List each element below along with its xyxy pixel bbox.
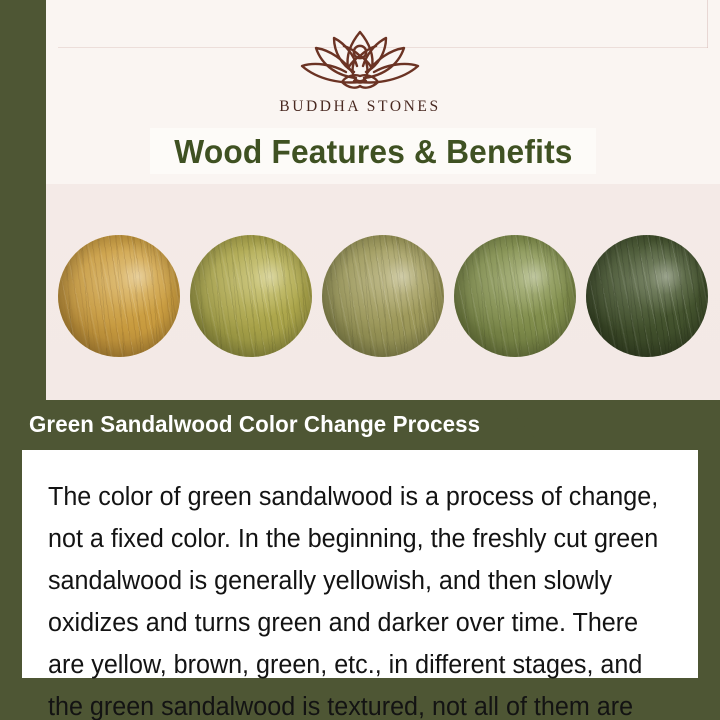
page-title: Wood Features & Benefits — [174, 135, 572, 168]
poster-root: BUDDHA STONES Wood Features & Benefits G… — [0, 0, 720, 720]
section-ribbon: Green Sandalwood Color Change Process — [0, 404, 540, 444]
bead-stage-3 — [322, 235, 444, 357]
title-band: Wood Features & Benefits — [150, 128, 596, 174]
brand-name: BUDDHA STONES — [279, 98, 440, 116]
bead-stage-5 — [586, 235, 708, 357]
bead-stage-2 — [190, 235, 312, 357]
lotus-meditation-icon — [276, 26, 444, 94]
bead-row — [46, 228, 720, 364]
bead-stage-1 — [58, 235, 180, 357]
body-paragraph: The color of green sandalwood is a proce… — [48, 476, 659, 720]
bead-stage-4 — [454, 235, 576, 357]
corner-accent-left — [0, 172, 26, 198]
brand-logo: BUDDHA STONES — [0, 26, 720, 122]
section-title: Green Sandalwood Color Change Process — [29, 411, 480, 438]
body-panel: The color of green sandalwood is a proce… — [22, 450, 698, 678]
